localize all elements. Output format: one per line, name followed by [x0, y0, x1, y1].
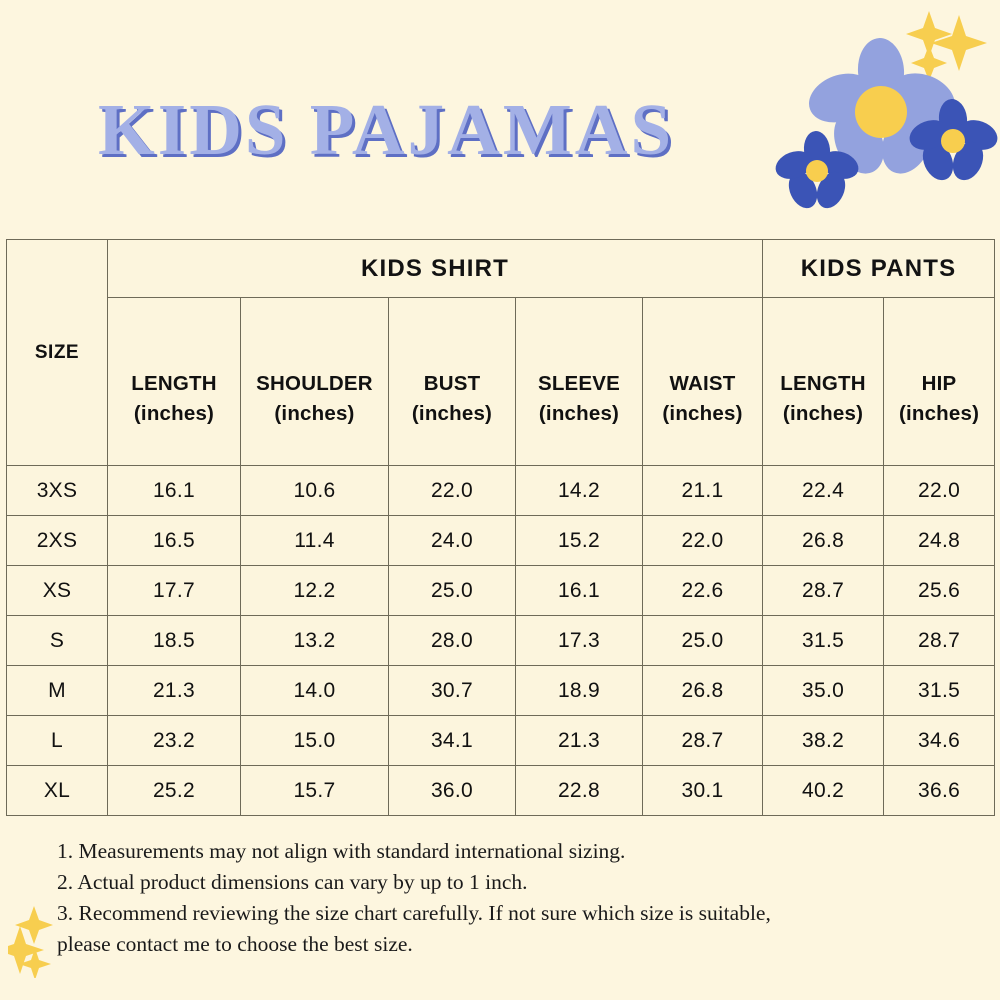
cell-value: 35.0: [763, 666, 884, 716]
table-row: 3XS 16.1 10.6 22.0 14.2 21.1 22.4 22.0: [7, 466, 995, 516]
column-header-name: LENGTH: [131, 372, 216, 395]
cell-value: 22.0: [884, 466, 995, 516]
size-chart-body: 3XS 16.1 10.6 22.0 14.2 21.1 22.4 22.0 2…: [7, 466, 995, 816]
cell-size: XL: [7, 766, 108, 816]
cell-value: 24.8: [884, 516, 995, 566]
cell-size: L: [7, 716, 108, 766]
cell-value: 10.6: [241, 466, 389, 516]
cell-size: XS: [7, 566, 108, 616]
sparkle-icon: [906, 11, 987, 81]
cell-value: 28.7: [884, 616, 995, 666]
column-header-name: HIP: [922, 372, 957, 395]
cell-value: 28.7: [763, 566, 884, 616]
cell-value: 15.0: [241, 716, 389, 766]
table-row: S 18.5 13.2 28.0 17.3 25.0 31.5 28.7: [7, 616, 995, 666]
cell-value: 16.1: [516, 566, 643, 616]
cell-value: 25.2: [108, 766, 241, 816]
column-header-name: BUST: [424, 372, 481, 395]
table-row: M 21.3 14.0 30.7 18.9 26.8 35.0 31.5: [7, 666, 995, 716]
cell-value: 22.8: [516, 766, 643, 816]
column-header-unit: (inches): [643, 399, 762, 429]
page-header: KIDS PAJAMAS: [0, 0, 1000, 235]
column-header-bust: BUST (inches): [389, 298, 516, 466]
column-header-shirt-length: LENGTH (inches): [108, 298, 241, 466]
cell-value: 14.0: [241, 666, 389, 716]
size-chart-table-wrapper: SIZE KIDS SHIRT KIDS PANTS LENGTH (inche…: [6, 239, 994, 816]
cell-value: 28.0: [389, 616, 516, 666]
column-header-unit: (inches): [241, 399, 388, 429]
cell-value: 22.4: [763, 466, 884, 516]
cell-value: 25.6: [884, 566, 995, 616]
cell-value: 25.0: [643, 616, 763, 666]
cell-value: 28.7: [643, 716, 763, 766]
cell-value: 26.8: [763, 516, 884, 566]
column-header-name: LENGTH: [780, 372, 865, 395]
group-header-row: SIZE KIDS SHIRT KIDS PANTS: [7, 240, 995, 298]
column-header-unit: (inches): [516, 399, 642, 429]
column-header-unit: (inches): [108, 399, 240, 429]
cell-value: 26.8: [643, 666, 763, 716]
cell-value: 24.0: [389, 516, 516, 566]
table-row: L 23.2 15.0 34.1 21.3 28.7 38.2 34.6: [7, 716, 995, 766]
cell-value: 34.1: [389, 716, 516, 766]
column-header-hip: HIP (inches): [884, 298, 995, 466]
size-chart-table: SIZE KIDS SHIRT KIDS PANTS LENGTH (inche…: [6, 239, 995, 816]
cell-value: 30.1: [643, 766, 763, 816]
cell-value: 21.1: [643, 466, 763, 516]
column-header-shoulder: SHOULDER (inches): [241, 298, 389, 466]
page-title: KIDS PAJAMAS: [98, 88, 674, 172]
column-header-unit: (inches): [884, 399, 994, 429]
column-header-waist: WAIST (inches): [643, 298, 763, 466]
cell-value: 30.7: [389, 666, 516, 716]
table-row: 2XS 16.5 11.4 24.0 15.2 22.0 26.8 24.8: [7, 516, 995, 566]
table-row: XS 17.7 12.2 25.0 16.1 22.6 28.7 25.6: [7, 566, 995, 616]
cell-value: 12.2: [241, 566, 389, 616]
cell-value: 17.3: [516, 616, 643, 666]
footnote-3: 3. Recommend reviewing the size chart ca…: [57, 898, 987, 929]
group-header-kids-pants: KIDS PANTS: [763, 240, 995, 298]
cell-value: 22.6: [643, 566, 763, 616]
cell-value: 16.1: [108, 466, 241, 516]
cell-value: 21.3: [516, 716, 643, 766]
column-header-name: SLEEVE: [538, 372, 620, 395]
group-header-kids-shirt: KIDS SHIRT: [108, 240, 763, 298]
column-header-name: WAIST: [670, 372, 736, 395]
footnote-2: 2. Actual product dimensions can vary by…: [57, 867, 987, 898]
column-header-name: SHOULDER: [256, 372, 373, 395]
column-header-size: SIZE: [7, 240, 108, 466]
cell-value: 38.2: [763, 716, 884, 766]
column-header-unit: (inches): [763, 399, 883, 429]
footnote-3-continued: please contact me to choose the best siz…: [57, 929, 987, 960]
cell-size: S: [7, 616, 108, 666]
cell-value: 22.0: [389, 466, 516, 516]
cell-value: 36.6: [884, 766, 995, 816]
column-header-sleeve: SLEEVE (inches): [516, 298, 643, 466]
cell-value: 18.9: [516, 666, 643, 716]
cell-value: 15.7: [241, 766, 389, 816]
cell-value: 25.0: [389, 566, 516, 616]
column-header-row: LENGTH (inches) SHOULDER (inches) BUST (…: [7, 298, 995, 466]
column-header-pants-length: LENGTH (inches): [763, 298, 884, 466]
column-header-unit: (inches): [389, 399, 515, 429]
cell-value: 11.4: [241, 516, 389, 566]
cell-value: 14.2: [516, 466, 643, 516]
cell-value: 36.0: [389, 766, 516, 816]
cell-value: 18.5: [108, 616, 241, 666]
cell-value: 31.5: [763, 616, 884, 666]
cell-size: M: [7, 666, 108, 716]
cell-value: 40.2: [763, 766, 884, 816]
cell-value: 13.2: [241, 616, 389, 666]
cell-value: 31.5: [884, 666, 995, 716]
footnotes: 1. Measurements may not align with stand…: [57, 836, 987, 960]
table-row: XL 25.2 15.7 36.0 22.8 30.1 40.2 36.6: [7, 766, 995, 816]
cell-value: 34.6: [884, 716, 995, 766]
flower-decoration: [770, 0, 1000, 210]
footnote-1: 1. Measurements may not align with stand…: [57, 836, 987, 867]
cell-size: 2XS: [7, 516, 108, 566]
cell-size: 3XS: [7, 466, 108, 516]
cell-value: 15.2: [516, 516, 643, 566]
cell-value: 17.7: [108, 566, 241, 616]
sparkle-icon-corner: [8, 898, 88, 978]
cell-value: 16.5: [108, 516, 241, 566]
cell-value: 22.0: [643, 516, 763, 566]
cell-value: 23.2: [108, 716, 241, 766]
cell-value: 21.3: [108, 666, 241, 716]
